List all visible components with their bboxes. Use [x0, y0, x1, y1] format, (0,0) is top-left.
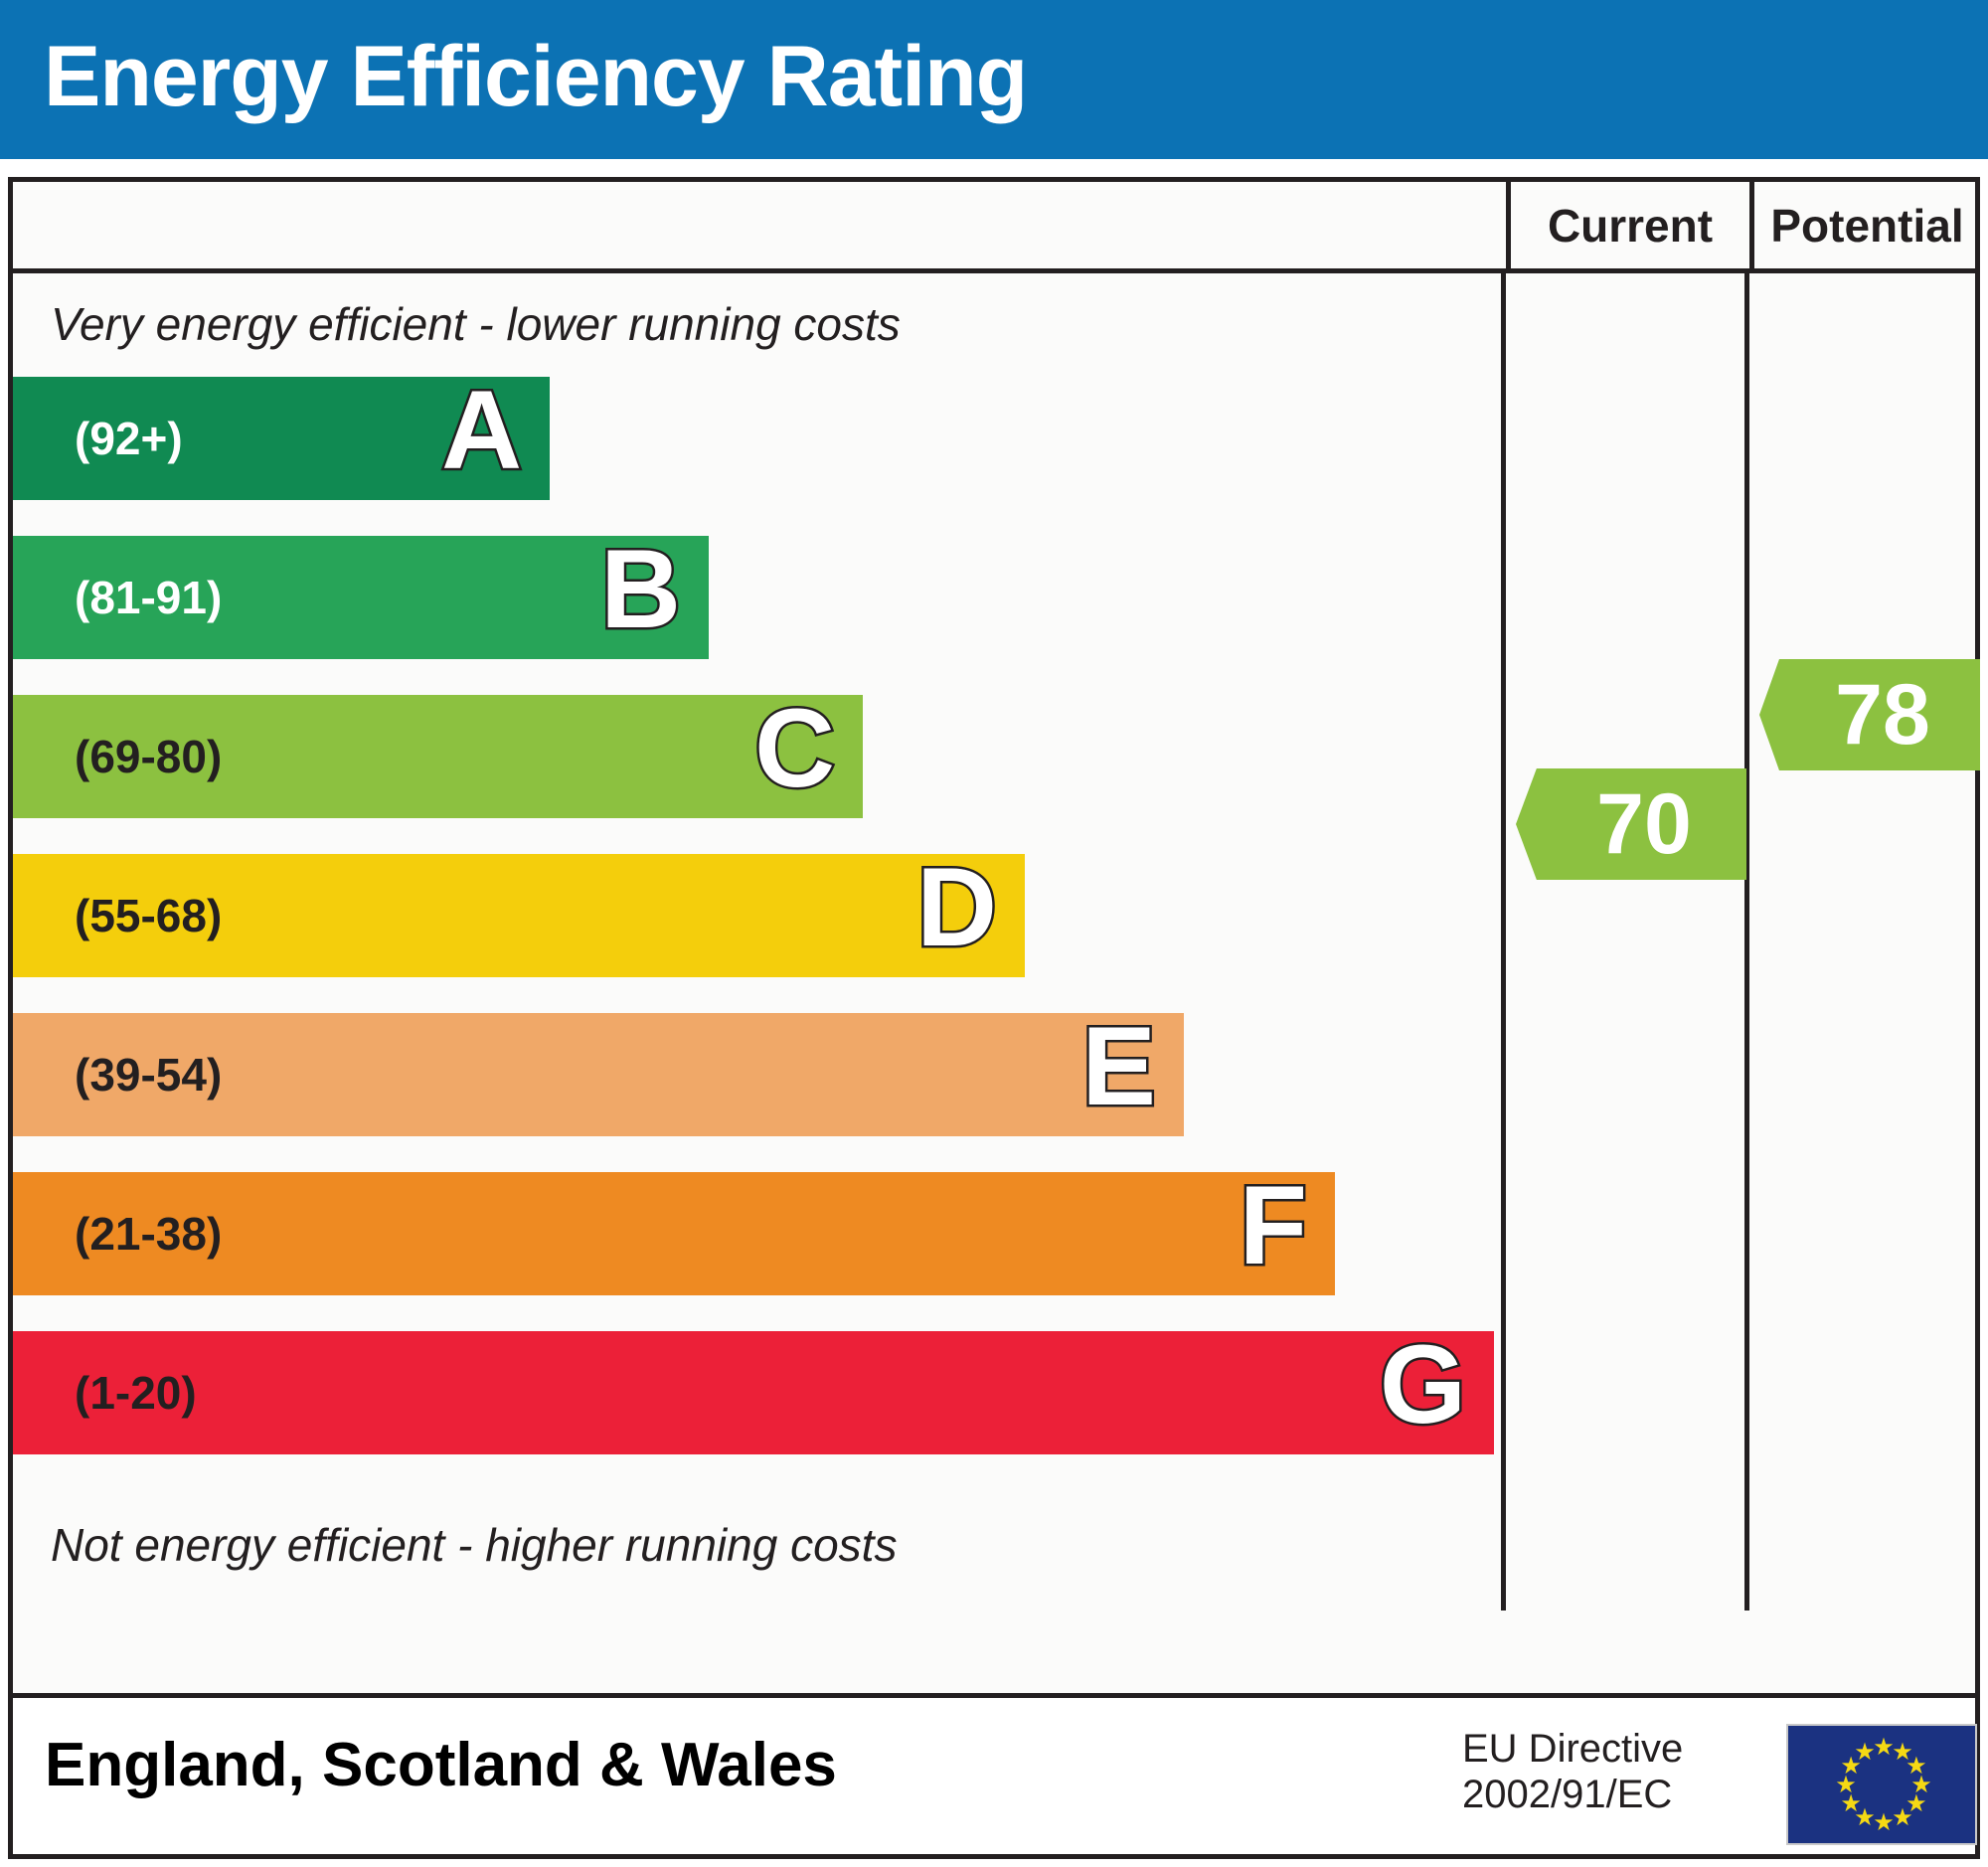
eu-directive-line-1: EU Directive	[1462, 1726, 1683, 1772]
band-d: (55-68)D	[13, 854, 1025, 977]
band-c: (69-80)C	[13, 695, 863, 818]
band-range-c: (69-80)	[75, 730, 222, 783]
title-banner: Energy Efficiency Rating	[0, 0, 1988, 159]
footer-bar: England, Scotland & Wales EU Directive 2…	[8, 1698, 1980, 1859]
eu-flag-star: ★	[1873, 1811, 1895, 1835]
column-header-current: Current	[1506, 182, 1749, 273]
band-letter-e: E	[1081, 1011, 1156, 1122]
eu-flag-icon: ★★★★★★★★★★★★	[1786, 1724, 1977, 1845]
band-range-b: (81-91)	[75, 571, 222, 624]
potential-rating-arrow: 78	[1759, 659, 1980, 770]
band-letter-f: F	[1240, 1170, 1307, 1281]
band-g: (1-20)G	[13, 1331, 1494, 1454]
band-range-e: (39-54)	[75, 1048, 222, 1102]
eu-flag-star: ★	[1892, 1806, 1913, 1830]
band-range-d: (55-68)	[75, 889, 222, 942]
band-b: (81-91)B	[13, 536, 709, 659]
energy-efficiency-rating-chart: Energy Efficiency Rating Current Potenti…	[0, 0, 1988, 1867]
band-letter-c: C	[754, 693, 835, 804]
band-range-a: (92+)	[75, 412, 183, 465]
eu-flag-star: ★	[1854, 1741, 1876, 1765]
band-a: (92+)A	[13, 377, 550, 500]
band-e: (39-54)E	[13, 1013, 1184, 1136]
column-divider-1	[1501, 273, 1506, 1611]
band-f: (21-38)F	[13, 1172, 1335, 1295]
caption-not-efficient: Not energy efficient - higher running co…	[51, 1518, 897, 1572]
header-blank-cell	[13, 182, 1506, 273]
band-letter-d: D	[916, 852, 997, 963]
eu-directive-text: EU Directive 2002/91/EC	[1462, 1726, 1683, 1817]
bands-area: Very energy efficient - lower running co…	[13, 273, 1501, 1611]
column-header-row: Current Potential	[13, 182, 1975, 273]
current-rating-arrow: 70	[1516, 768, 1746, 880]
band-range-g: (1-20)	[75, 1366, 197, 1420]
chart-frame: Current Potential Very energy efficient …	[8, 177, 1980, 1698]
column-header-potential: Potential	[1749, 182, 1980, 273]
eu-directive-line-2: 2002/91/EC	[1462, 1772, 1683, 1817]
caption-very-efficient: Very energy efficient - lower running co…	[51, 297, 901, 351]
region-label: England, Scotland & Wales	[45, 1730, 837, 1800]
band-letter-a: A	[441, 375, 522, 486]
band-letter-g: G	[1380, 1329, 1466, 1441]
band-range-f: (21-38)	[75, 1207, 222, 1261]
band-letter-b: B	[600, 534, 681, 645]
page-title: Energy Efficiency Rating	[44, 28, 1027, 126]
column-divider-2	[1744, 273, 1749, 1611]
